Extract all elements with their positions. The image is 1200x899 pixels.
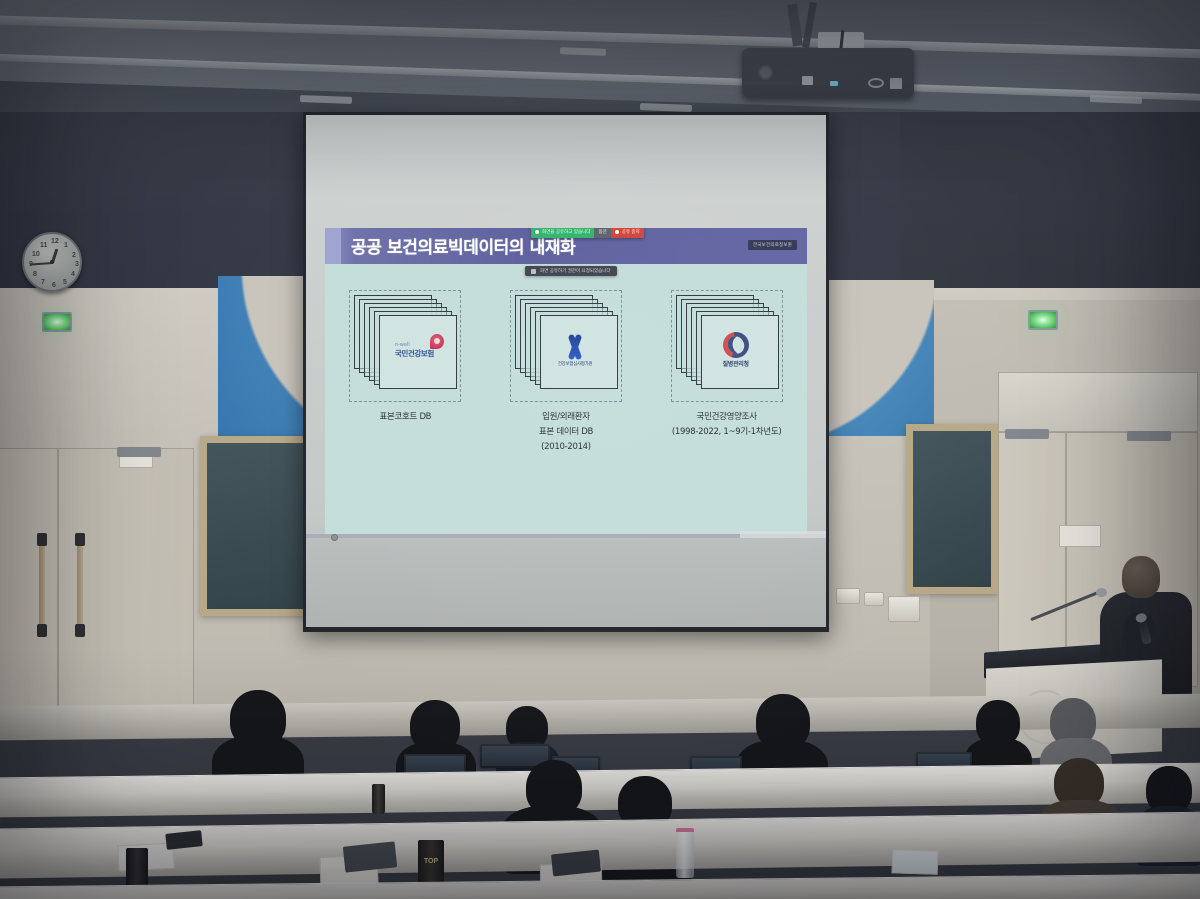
ceiling bbox=[0, 0, 1200, 120]
db-caption-kdca: 국민건강영양조사 (1998-2022, 1~9기-1차년도) bbox=[672, 410, 781, 440]
door-closer bbox=[117, 447, 161, 457]
share-notification-bar[interactable]: 화면 공유하기 권한이 요청되었습니다 bbox=[525, 266, 617, 276]
drink-can bbox=[126, 848, 148, 890]
hira-logo: 건강보험심사평가원 bbox=[537, 314, 613, 386]
exit-sign-left bbox=[42, 312, 72, 332]
projector-vent bbox=[890, 78, 902, 89]
nhis-heart-mark-icon bbox=[430, 334, 444, 349]
coffee-can: TOP bbox=[418, 840, 444, 886]
clock-center-pin bbox=[50, 260, 54, 264]
share-options-label: 옵션 bbox=[598, 229, 606, 235]
db-stack-outline: n-well 국민건강보험 bbox=[349, 290, 461, 402]
projected-slide: 공공 보건의료빅데이터의 내재화 한국보건의료정보원 화면을 공유하고 있습니다… bbox=[325, 228, 807, 538]
kdca-logo: 질병관리청 bbox=[698, 314, 774, 386]
screen-share-toolbar[interactable]: 화면을 공유하고 있습니다 옵션 공유 중지 bbox=[531, 228, 644, 238]
ceiling-light-fixture bbox=[560, 47, 606, 56]
db-column-nhis: n-well 국민건강보험 표본코호트 DB bbox=[330, 290, 480, 425]
chalkboard-left bbox=[200, 436, 318, 616]
water-bottle bbox=[676, 828, 694, 878]
screen-light-patch bbox=[740, 531, 826, 538]
exit-sign-right bbox=[1028, 310, 1058, 330]
nhis-logo: n-well 국민건강보험 bbox=[376, 314, 452, 386]
projector-focus-ring bbox=[868, 78, 884, 88]
screen-pull-knob[interactable] bbox=[331, 534, 338, 541]
notification-icon bbox=[531, 269, 536, 274]
ledge-equipment bbox=[864, 592, 884, 606]
chalkboard-right bbox=[906, 424, 998, 594]
door-handle[interactable] bbox=[77, 537, 83, 633]
projector-button[interactable] bbox=[802, 76, 813, 85]
upper-wall-right bbox=[900, 112, 1200, 312]
db-caption-nhis: 표본코호트 DB bbox=[379, 410, 431, 425]
db-column-hira: 건강보험심사평가원 입원/외래환자 표본 데이터 DB (2010-2014) bbox=[491, 290, 641, 455]
microphone-head-icon bbox=[1096, 588, 1107, 597]
door-closer bbox=[1005, 429, 1049, 439]
database-columns: n-well 국민건강보험 표본코호트 DB bbox=[325, 290, 807, 455]
hira-x-mark-icon bbox=[564, 334, 586, 360]
share-status-label: 화면을 공유하고 있습니다 bbox=[542, 229, 590, 235]
screen-blank-area bbox=[306, 538, 826, 627]
notification-text: 화면 공유하기 권한이 요청되었습니다 bbox=[540, 268, 611, 274]
tablet-device[interactable] bbox=[343, 841, 397, 872]
ceiling-light-fixture bbox=[1090, 95, 1142, 104]
share-status-segment: 화면을 공유하고 있습니다 bbox=[531, 228, 594, 238]
projector-led-indicator bbox=[830, 81, 838, 86]
ledge-equipment bbox=[888, 596, 920, 622]
door-sign-plate bbox=[1059, 525, 1101, 547]
stop-sharing-button[interactable]: 공유 중지 bbox=[611, 228, 644, 238]
lecture-hall-photo: 12 1 2 3 4 5 6 7 8 9 10 11 bbox=[0, 0, 1200, 899]
wall-banner-right bbox=[828, 280, 934, 436]
db-caption-hira: 입원/외래환자 표본 데이터 DB (2010-2014) bbox=[539, 410, 593, 455]
taegeuk-mark-icon bbox=[723, 332, 749, 358]
recording-dot-icon bbox=[535, 230, 539, 234]
projector-lens-icon bbox=[758, 65, 773, 80]
coffee-can-label: TOP bbox=[418, 858, 444, 865]
slide-title-accent bbox=[325, 228, 341, 264]
db-column-kdca: 질병관리청 국민건강영양조사 (1998-2022, 1~9기-1차년도) bbox=[652, 290, 802, 440]
wall-clock: 12 1 2 3 4 5 6 7 8 9 10 11 bbox=[22, 232, 82, 292]
presenter-head bbox=[1122, 556, 1160, 598]
ledge-equipment bbox=[836, 588, 860, 604]
db-stack-outline: 건강보험심사평가원 bbox=[510, 290, 622, 402]
double-door-left[interactable] bbox=[0, 448, 194, 708]
stop-square-icon bbox=[615, 230, 619, 234]
door-transom-right bbox=[998, 372, 1198, 432]
clock-minute-hand bbox=[30, 262, 52, 266]
door-handle[interactable] bbox=[39, 537, 45, 633]
share-options-button[interactable]: 옵션 bbox=[594, 228, 610, 238]
handout-paper bbox=[892, 849, 939, 875]
db-stack-outline: 질병관리청 bbox=[671, 290, 783, 402]
drink-bottle bbox=[372, 784, 385, 814]
door-closer bbox=[1127, 431, 1171, 441]
slide-corner-badge: 한국보건의료정보원 bbox=[748, 240, 797, 250]
ceiling-projector bbox=[742, 48, 914, 98]
stop-sharing-label: 공유 중지 bbox=[622, 229, 640, 235]
